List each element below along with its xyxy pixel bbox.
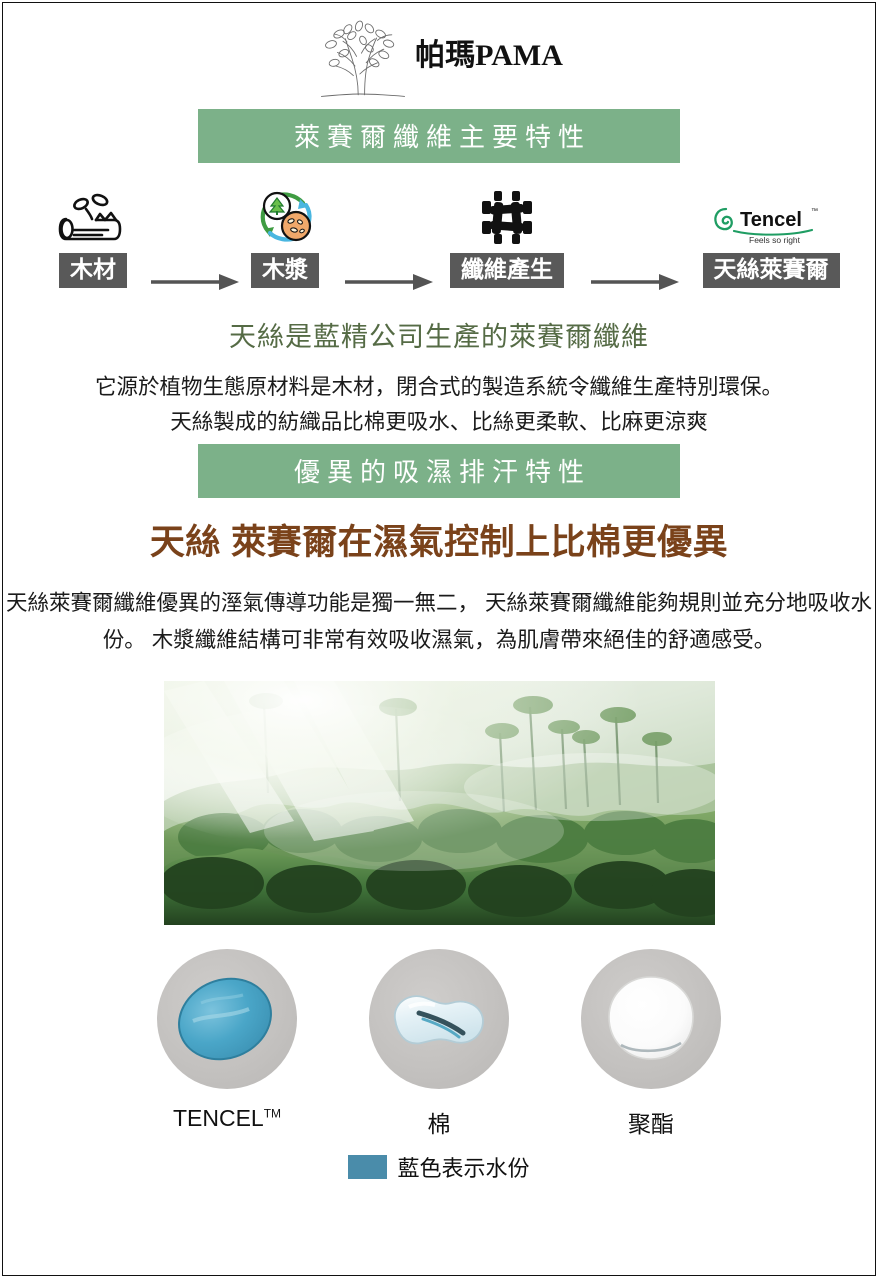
sample-disc-polyester	[581, 949, 721, 1089]
sample-label-tencel: TENCELTM	[157, 1105, 297, 1132]
flow-step-tencel: Tencel ™ Feels so right 天絲萊賽爾	[695, 185, 847, 288]
intro-line-2: 天絲製成的紡織品比棉更吸水、比絲更柔軟、比麻更涼爽	[3, 405, 875, 440]
sample-label-cotton: 棉	[369, 1105, 509, 1139]
sample-label-text: TENCEL	[173, 1105, 264, 1131]
lenzing-subtitle: 天絲是藍精公司生產的萊賽爾纖維	[3, 315, 875, 354]
section-banner-features: 萊賽爾纖維主要特性	[198, 109, 680, 163]
recycle-tree-pulp-icon	[235, 185, 335, 247]
intro-line-1: 它源於植物生態原材料是木材，閉合式的製造系統令纖維生產特別環保。	[3, 370, 875, 405]
poster-page: 帕瑪PAMA 萊賽爾纖維主要特性	[2, 2, 876, 1276]
sample-polyester: 聚酯	[581, 949, 721, 1139]
flow-step-pulp: 木漿	[235, 185, 335, 288]
moisture-line-1: 天絲萊賽爾纖維優異的溼氣傳導功能是獨一無二，	[6, 591, 479, 615]
sample-disc-tencel	[157, 949, 297, 1089]
trademark-mark: TM	[264, 1106, 281, 1120]
flow-chip-pulp: 木漿	[251, 253, 319, 288]
moisture-paragraph: 天絲萊賽爾纖維優異的溼氣傳導功能是獨一無二， 天絲萊賽爾纖維能夠規則並充分地吸收…	[3, 585, 875, 659]
tree-line-art-icon	[315, 18, 411, 98]
legend-color-swatch	[348, 1155, 387, 1179]
flow-chip-fiber: 纖維產生	[450, 253, 564, 288]
page-headline: 天絲 萊賽爾在濕氣控制上比棉更優異	[3, 514, 875, 565]
moisture-line-3: 木漿纖維結構可非常有效吸收濕氣，為肌膚帶來絕佳的舒適感受。	[152, 628, 776, 652]
svg-text:Feels so right: Feels so right	[749, 235, 801, 245]
woven-fiber-icon	[433, 185, 581, 247]
moisture-legend: 藍色表示水份	[3, 1151, 875, 1183]
tencel-logo-icon: Tencel ™ Feels so right	[695, 185, 847, 247]
legend-label: 藍色表示水份	[397, 1151, 529, 1183]
brand-logo: 帕瑪PAMA	[3, 3, 875, 91]
svg-text:™: ™	[811, 208, 818, 215]
sample-tencel: TENCELTM	[157, 949, 297, 1139]
flow-step-fiber: 纖維產生	[433, 185, 581, 288]
right-arrow-icon	[589, 271, 681, 293]
right-arrow-icon	[343, 271, 435, 293]
flow-chip-tencel: 天絲萊賽爾	[703, 253, 840, 288]
right-arrow-icon	[149, 271, 241, 293]
polyester-cross-section	[591, 959, 711, 1079]
process-flow-diagram: 木材	[3, 185, 875, 305]
sample-disc-cotton	[369, 949, 509, 1089]
section-banner-moisture: 優異的吸濕排汗特性	[198, 444, 680, 498]
brand-name: 帕瑪PAMA	[415, 41, 563, 75]
intro-paragraph: 它源於植物生態原材料是木材，閉合式的製造系統令纖維生產特別環保。 天絲製成的紡織…	[3, 370, 875, 440]
svg-text:Tencel: Tencel	[740, 209, 802, 231]
wood-log-icon	[37, 185, 149, 247]
forest-photo	[164, 681, 715, 925]
flow-step-wood: 木材	[37, 185, 149, 288]
sample-label-polyester: 聚酯	[581, 1105, 721, 1139]
tencel-cross-section	[167, 959, 287, 1079]
cotton-cross-section	[379, 959, 499, 1079]
fiber-sample-group: TENCELTM 棉	[3, 949, 875, 1139]
sample-cotton: 棉	[369, 949, 509, 1139]
flow-chip-wood: 木材	[59, 253, 127, 288]
